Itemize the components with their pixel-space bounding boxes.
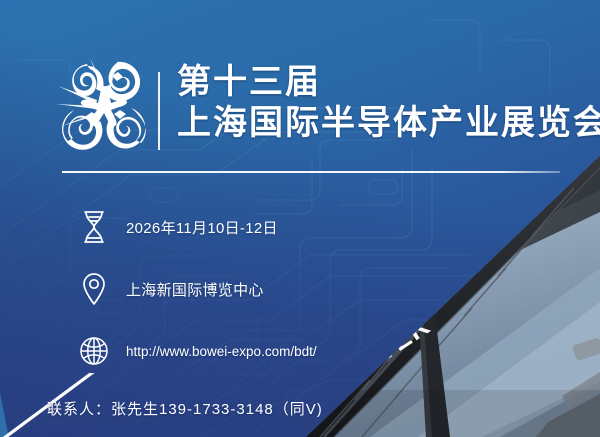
- info-row-date-text: 2026年11月10日-12日: [126, 217, 278, 238]
- info-row-venue: 上海新国际博览中心: [74, 258, 414, 320]
- info-row-venue-text: 上海新国际博览中心: [126, 279, 264, 300]
- hourglass-icon: [74, 206, 114, 248]
- info-row-website[interactable]: http://www.bowei-expo.com/bdt/: [74, 320, 414, 382]
- butterfly-emblem-logo: [52, 56, 156, 162]
- header-divider-rule: [62, 171, 560, 173]
- event-name-title: 上海国际半导体产业展览会: [177, 103, 600, 144]
- poster-header: 第十三届 上海国际半导体产业展览会: [0, 0, 600, 171]
- title-block: 第十三届 上海国际半导体产业展览会: [177, 62, 600, 145]
- exhibition-poster: MEDIATEK: [0, 0, 600, 437]
- info-row-website-text[interactable]: http://www.bowei-expo.com/bdt/: [126, 344, 317, 359]
- info-row-date: 2026年11月10日-12日: [74, 196, 414, 258]
- map-pin-icon: [74, 268, 114, 310]
- logo-title-divider: [158, 72, 160, 150]
- contact-person-text: 联系人：张先生139-1733-3148（同V): [47, 398, 323, 419]
- globe-icon: [74, 330, 114, 372]
- edition-title: 第十三届: [177, 62, 600, 103]
- contact-bar: 联系人：张先生139-1733-3148（同V): [0, 385, 600, 437]
- info-list: 2026年11月10日-12日 上海新国际博览中心: [74, 196, 414, 382]
